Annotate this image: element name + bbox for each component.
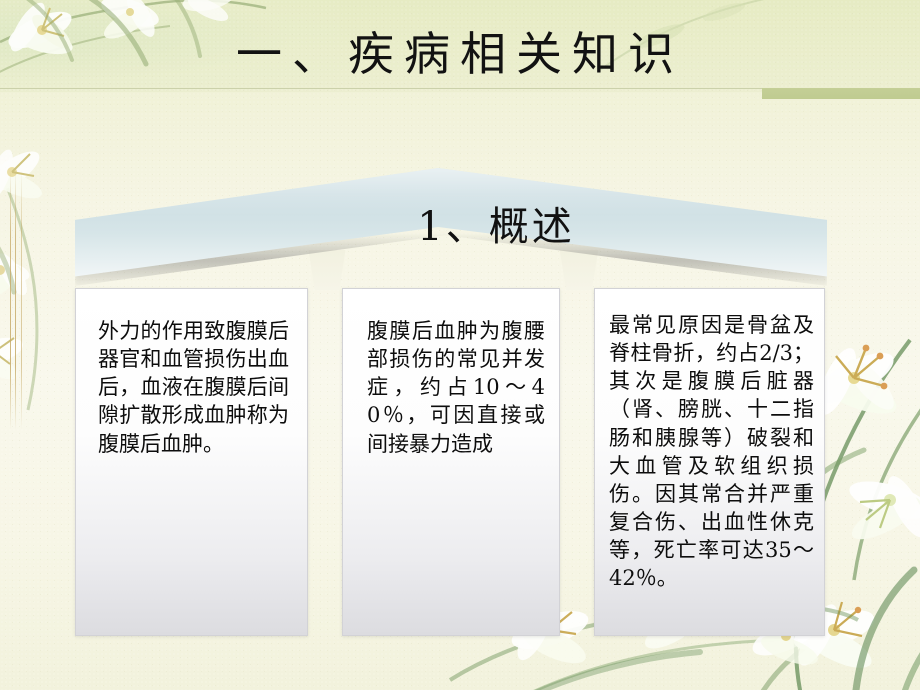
gold-vertical-rules	[8, 170, 32, 430]
content-box-2: 腹膜后血肿为腹腰部损伤的常见并发症，约占10～40％，可因直接或间接暴力造成	[342, 288, 560, 636]
content-box-3: 最常见原因是骨盆及脊柱骨折，约占2/3；其次是腹膜后脏器（肾、膀胱、十二指肠和胰…	[594, 288, 825, 636]
content-box-1: 外力的作用致腹膜后器官和血管损伤出血后，血液在腹膜后间隙扩散形成血肿称为腹膜后血…	[75, 288, 308, 636]
presentation-slide: 一、疾病相关知识 1、概述 外力的作用致腹膜后器官和血管损伤出血后，血液在腹膜后…	[0, 0, 920, 690]
content-box-1-text: 外力的作用致腹膜后器官和血管损伤出血后，血液在腹膜后间隙扩散形成血肿称为腹膜后血…	[76, 289, 307, 458]
page-title: 一、疾病相关知识	[236, 27, 684, 81]
banner-title: 1、概述	[75, 194, 827, 252]
header-accent-bar	[762, 88, 920, 99]
content-box-2-text: 腹膜后血肿为腹腰部损伤的常见并发症，约占10～40％，可因直接或间接暴力造成	[343, 289, 559, 458]
content-box-3-text: 最常见原因是骨盆及脊柱骨折，约占2/3；其次是腹膜后脏器（肾、膀胱、十二指肠和胰…	[595, 289, 824, 592]
section-banner: 1、概述	[75, 168, 827, 286]
